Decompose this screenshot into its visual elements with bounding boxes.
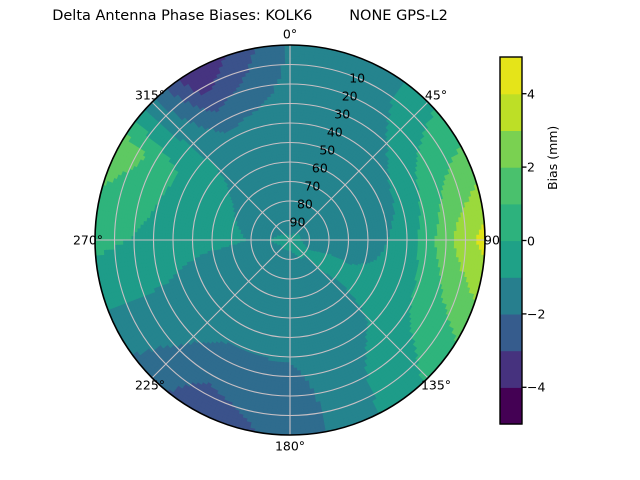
radial-tick-label-20: 20: [342, 88, 358, 103]
colorbar-axis-label: Bias (mm): [545, 126, 560, 190]
angular-tick-label-270: 270°: [73, 233, 103, 248]
colorbar-tick-label-4: −4: [527, 380, 545, 395]
angular-tick-label-0: 0°: [283, 27, 297, 42]
radial-tick-label-50: 50: [319, 142, 335, 157]
radial-tick-label-60: 60: [312, 160, 328, 175]
radial-tick-label-90: 90: [290, 214, 306, 229]
angular-tick-label-180: 180°: [275, 439, 305, 454]
colorbar-gradient: [500, 57, 522, 425]
radial-tick-label-10: 10: [349, 70, 365, 85]
colorbar-svg: [495, 0, 640, 480]
radial-tick-label-80: 80: [297, 196, 313, 211]
radial-tick-label-30: 30: [334, 106, 350, 121]
radial-tick-label-70: 70: [304, 178, 320, 193]
colorbar-axes: [495, 0, 640, 480]
angular-tick-label-225: 225°: [135, 378, 165, 393]
angular-tick-label-135: 135°: [421, 378, 451, 393]
angular-tick-label-45: 45°: [425, 88, 447, 103]
colorbar-tick-label-1: 2: [527, 160, 535, 175]
figure-canvas: Delta Antenna Phase Biases: KOLK6 NONE G…: [0, 0, 640, 480]
polar-gridlines: [95, 45, 485, 435]
angular-tick-label-315: 315°: [135, 88, 165, 103]
colorbar-tick-label-0: 4: [527, 86, 535, 101]
angular-tick-label-90: 90: [484, 233, 500, 248]
colorbar-tick-label-3: −2: [527, 306, 545, 321]
radial-tick-label-40: 40: [327, 124, 343, 139]
colorbar-tick-label-2: 0: [527, 233, 535, 248]
